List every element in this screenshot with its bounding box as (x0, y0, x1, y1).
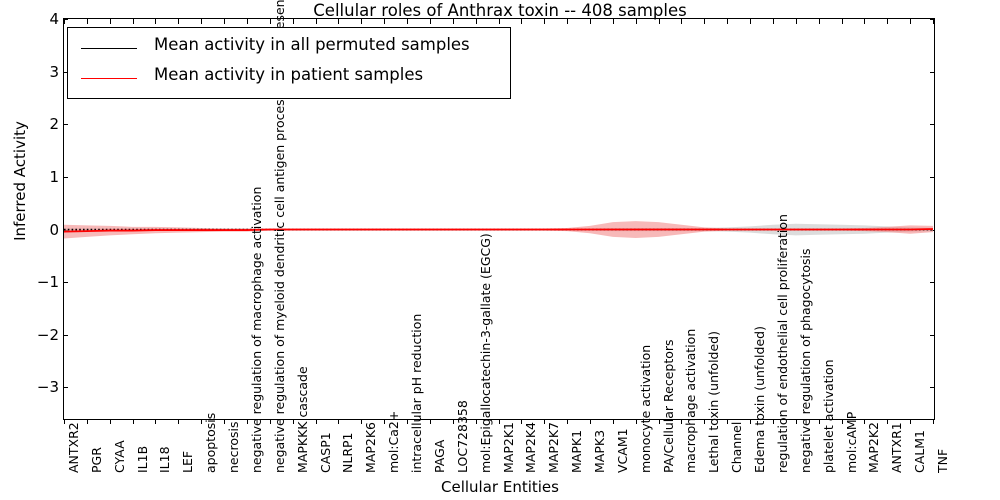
y-tick-label: 1 (0, 168, 59, 186)
x-category-label: LOC728358 (457, 400, 458, 473)
x-category-label: mol:Epigallocatechin-3-gallate (EGCG) (480, 233, 481, 473)
y-tick-label: −2 (0, 326, 59, 344)
chart-figure: Cellular roles of Anthrax toxin -- 408 s… (0, 0, 1000, 500)
x-category-label: CASP1 (320, 432, 321, 473)
x-category-label: intracellular pH reduction (411, 314, 412, 473)
x-category-label: MAPK3 (594, 430, 595, 473)
x-category-label: Channel (731, 422, 732, 473)
x-category-label: PAGA (434, 440, 435, 473)
chart-legend: Mean activity in all permuted samples Me… (67, 27, 511, 99)
legend-entry-patient: Mean activity in patient samples (68, 64, 510, 94)
y-tick-label: 4 (0, 10, 59, 28)
x-category-label: mol:Ca2+ (388, 411, 389, 473)
x-category-label: MAP2K4 (525, 422, 526, 473)
x-category-label: MAP2K7 (548, 422, 549, 473)
y-tick-label: 0 (0, 221, 59, 239)
x-category-label: TNF (937, 449, 938, 473)
x-category-label: MAP2K6 (365, 422, 366, 473)
x-category-label: monocyte activation (640, 345, 641, 473)
x-category-label: CALM1 (914, 430, 915, 473)
x-category-label: apoptosis (205, 413, 206, 473)
x-category-label: Edema toxin (unfolded) (754, 326, 755, 473)
x-category-label: macrophage activation (685, 329, 686, 473)
x-category-label: mol:cAMP (846, 412, 847, 473)
x-category-label: PA/Cellular Receptors (663, 339, 664, 473)
x-axis-label: Cellular Entities (0, 478, 1000, 496)
x-category-label: ANTXR2 (68, 422, 69, 473)
x-category-label: MAP2K2 (868, 422, 869, 473)
x-category-label: MAPKKK cascade (297, 366, 298, 473)
legend-line-red (81, 78, 137, 79)
x-category-label: negative regulation of macrophage activa… (251, 187, 252, 473)
x-category-label: negative regulation of phagocytosis (800, 248, 801, 473)
y-tick-label: −3 (0, 378, 59, 396)
x-category-label: CYAA (114, 440, 115, 473)
x-category-label: necrosis (228, 422, 229, 474)
y-tick-label: −1 (0, 273, 59, 291)
x-category-label: IL1B (137, 446, 138, 473)
x-category-label: platelet activation (823, 359, 824, 473)
legend-label-permuted: Mean activity in all permuted samples (154, 35, 470, 54)
x-category-label: NLRP1 (342, 433, 343, 474)
x-category-label: Lethal toxin (unfolded) (708, 331, 709, 473)
x-category-label: LEF (182, 451, 183, 473)
x-category-label: ANTXR1 (891, 422, 892, 473)
x-category-label: MAPK1 (571, 430, 572, 473)
x-category-label: regulation of endothelial cell prolifera… (777, 214, 778, 473)
x-category-label: PGR (91, 447, 92, 473)
legend-label-patient: Mean activity in patient samples (154, 65, 423, 84)
x-category-label: VCAM1 (617, 428, 618, 473)
x-category-label: IL18 (159, 446, 160, 473)
legend-entry-permuted: Mean activity in all permuted samples (68, 34, 510, 64)
y-tick-label: 3 (0, 63, 59, 81)
y-tick-label: 2 (0, 115, 59, 133)
x-category-label: MAP2K1 (503, 422, 504, 473)
legend-line-black (81, 48, 137, 49)
